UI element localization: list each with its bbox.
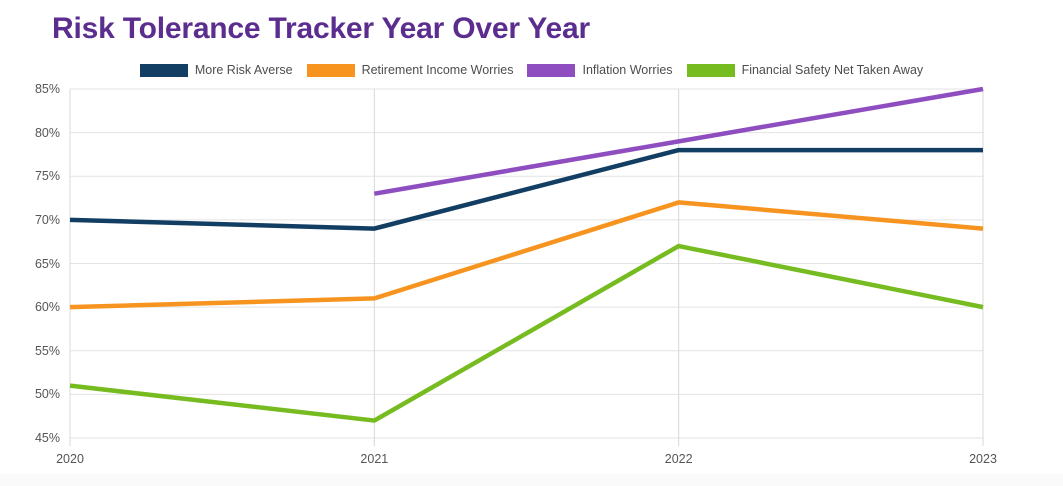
y-axis-tick-label: 85% [18,82,60,96]
y-axis-tick-label: 75% [18,169,60,183]
series-line [70,202,983,307]
x-axis-tick-label: 2020 [56,452,84,466]
x-axis-tick-label: 2023 [969,452,997,466]
x-axis-tick-label: 2021 [360,452,388,466]
y-axis-tick-label: 60% [18,300,60,314]
y-axis-tick-label: 45% [18,431,60,445]
y-axis-tick-label: 50% [18,387,60,401]
bottom-strip [0,474,1063,486]
y-axis-tick-label: 70% [18,213,60,227]
y-axis-tick-label: 65% [18,257,60,271]
plot-area: 85%80%75%70%65%60%55%50%45%2020202120222… [0,0,1063,486]
x-axis-tick-label: 2022 [665,452,693,466]
y-axis-tick-label: 80% [18,126,60,140]
y-axis-tick-label: 55% [18,344,60,358]
chart-container: Risk Tolerance Tracker Year Over Year Mo… [0,0,1063,486]
chart-svg [0,0,1063,486]
